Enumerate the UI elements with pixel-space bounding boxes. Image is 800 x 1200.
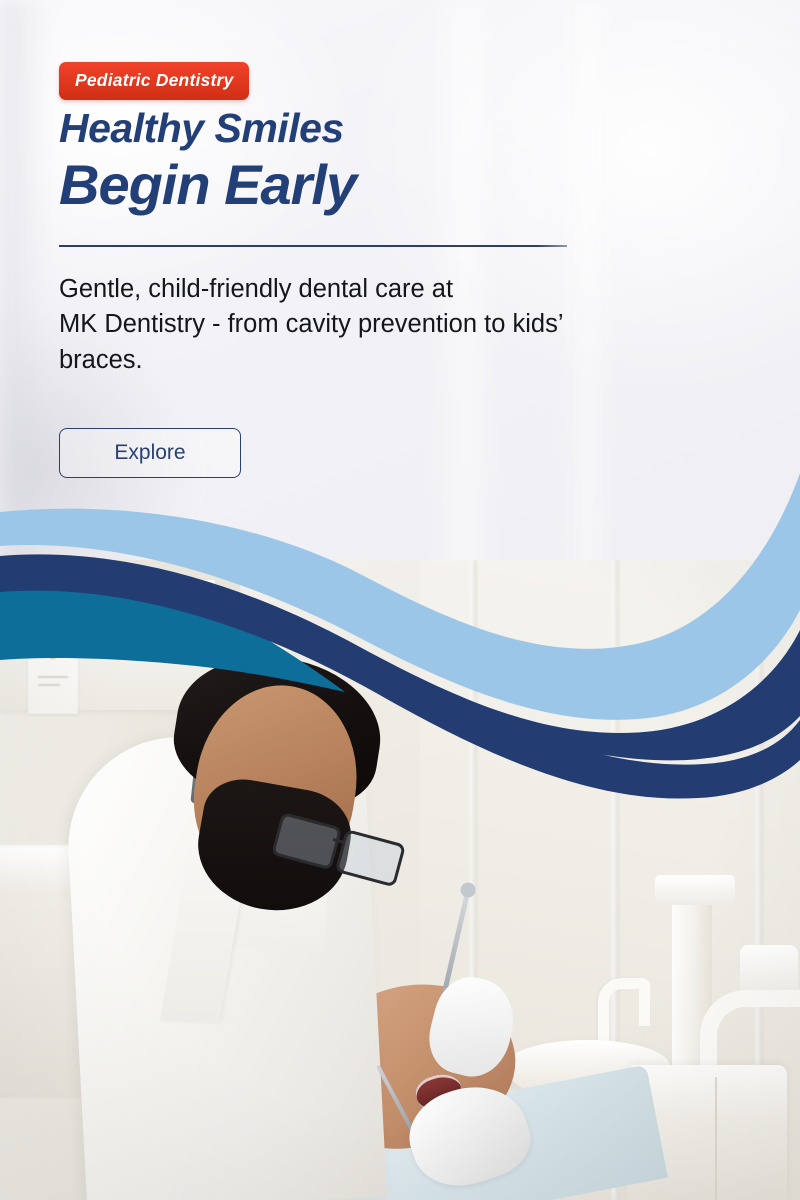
pediatric-dentistry-banner: Pediatric Dentistry Healthy Smiles Begin… [0,0,800,1200]
description-line-1: Gentle, child-friendly dental care at [59,272,719,307]
clinic-photo [0,560,800,1200]
description-line-3: braces. [59,343,719,378]
title-divider [59,245,567,247]
photo-vignette [0,560,800,1200]
headline-line-2: Begin Early [59,157,356,213]
description-text: Gentle, child-friendly dental care at MK… [59,272,719,378]
explore-button[interactable]: Explore [59,428,241,478]
category-badge: Pediatric Dentistry [59,62,249,100]
description-line-2: MK Dentistry - from cavity prevention to… [59,307,719,342]
page-title: Healthy Smiles Begin Early [59,108,356,213]
headline-line-1: Healthy Smiles [59,108,356,149]
